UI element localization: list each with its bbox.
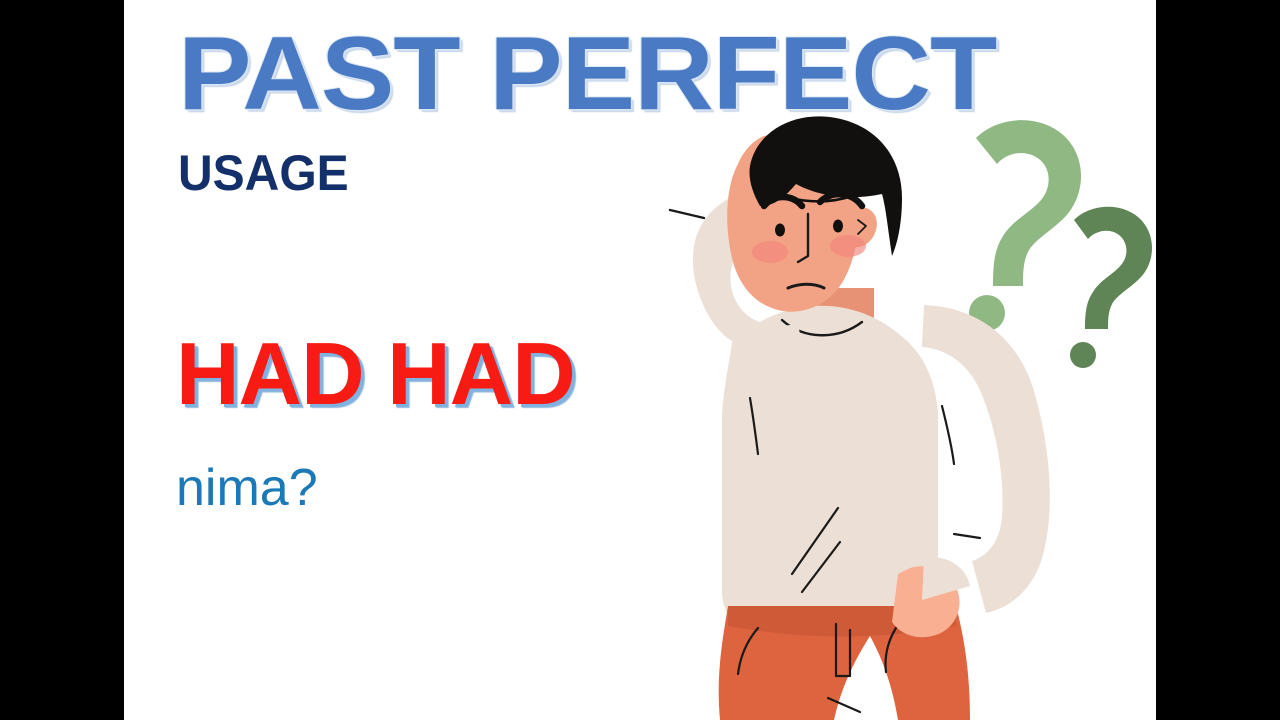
question-mark-large-icon <box>969 120 1081 331</box>
question-mark-small-icon <box>1070 207 1152 368</box>
headline-had-had: HAD HAD <box>176 330 575 418</box>
letterbox-bar-left <box>0 0 124 720</box>
forearm-line <box>954 534 980 538</box>
raised-arm-elbow-line <box>670 210 704 218</box>
page-subtitle: USAGE <box>178 148 349 198</box>
letterbox-bar-right <box>1156 0 1280 720</box>
right-eye <box>833 220 843 233</box>
left-cheek-blush <box>752 241 788 263</box>
page-title: PAST PERFECT <box>178 22 996 126</box>
left-eye <box>775 224 785 237</box>
illustration-confused-man <box>624 110 1156 720</box>
slide-content-area: PAST PERFECT USAGE HAD HAD nima? <box>124 0 1156 720</box>
slide-canvas: PAST PERFECT USAGE HAD HAD nima? <box>0 0 1280 720</box>
right-cheek-blush <box>830 235 866 257</box>
tagline-nima: nima? <box>176 462 318 514</box>
sweater-fold-line-2 <box>942 406 954 464</box>
